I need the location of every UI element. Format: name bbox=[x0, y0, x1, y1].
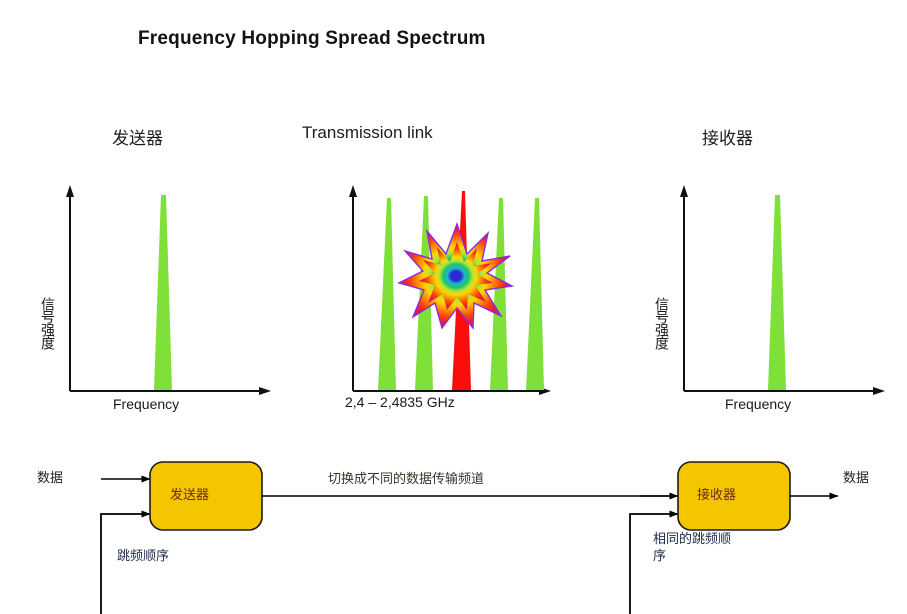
label-data-in: 数据 bbox=[37, 467, 63, 486]
label-same-hop-sequence: 相同的跳频顺序 bbox=[653, 530, 731, 564]
chart-receiver-spectrum bbox=[672, 183, 887, 398]
receiver-box-label: 接收器 bbox=[697, 484, 736, 503]
label-hop-sequence: 跳频顺序 bbox=[117, 545, 169, 564]
spectrum-spike bbox=[154, 195, 172, 390]
heading-receiver: 接收器 bbox=[702, 124, 753, 149]
chart-transmitter-xlabel: Frequency bbox=[113, 396, 179, 412]
chart-transmission-link-spectrum bbox=[345, 183, 560, 398]
collision-starburst-icon bbox=[399, 224, 512, 328]
diagram-canvas: Frequency Hopping Spread Spectrum 发送器 Tr… bbox=[0, 0, 907, 614]
hop-spike-4 bbox=[490, 198, 508, 390]
page-title: Frequency Hopping Spread Spectrum bbox=[138, 28, 486, 50]
spectrum-spike bbox=[768, 195, 786, 390]
transmitter-box-label: 发送器 bbox=[170, 484, 209, 503]
chart-transmission-link-xlabel: 2,4 – 2,4835 GHz bbox=[345, 394, 455, 410]
block-diagram bbox=[0, 440, 907, 614]
arrow-hop-sequence-tx bbox=[101, 514, 150, 614]
hop-spike-1 bbox=[378, 198, 396, 390]
hop-spike-5 bbox=[526, 198, 544, 390]
heading-transmission-link: Transmission link bbox=[302, 123, 433, 143]
arrow-hop-sequence-rx bbox=[630, 514, 678, 614]
chart-receiver-ylabel: 信号强度 bbox=[652, 297, 672, 349]
label-data-out: 数据 bbox=[843, 467, 869, 486]
heading-transmitter: 发送器 bbox=[112, 124, 163, 149]
chart-transmitter-spectrum bbox=[58, 183, 278, 398]
chart-receiver-xlabel: Frequency bbox=[725, 396, 791, 412]
label-channel-switching: 切换成不同的数据传输频道 bbox=[328, 468, 484, 487]
chart-transmitter-ylabel: 信号强度 bbox=[38, 297, 58, 349]
